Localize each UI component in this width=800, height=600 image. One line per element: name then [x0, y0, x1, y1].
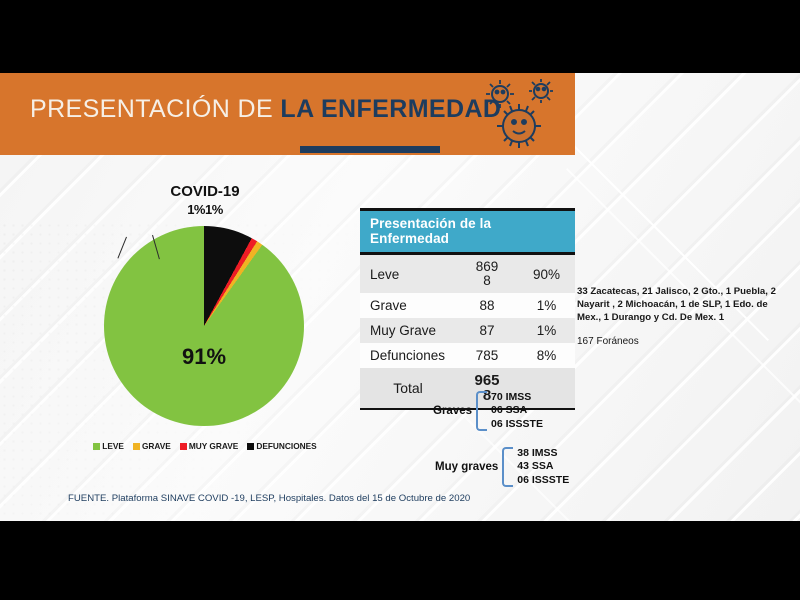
legend-swatch-leve — [93, 443, 100, 450]
bracket-icon — [502, 447, 513, 487]
table-row: Defunciones 785 8% — [360, 343, 575, 368]
table-cell-value: 8698 — [456, 260, 518, 288]
legend-label-muy-grave: MUY GRAVE — [189, 441, 238, 451]
side-note-states: 33 Zacatecas, 21 Jalisco, 2 Gto., 1 Pueb… — [577, 286, 782, 325]
annotation-muy-graves-title: Muy graves — [435, 461, 498, 473]
annotation-item: 06 ISSSTE — [491, 418, 543, 430]
table-cell-pct: 90% — [518, 267, 575, 282]
page-title-light: PRESENTACIÓN DE — [30, 95, 280, 123]
slide-canvas: PRESENTACIÓN DE LA ENFERMEDAD — [0, 73, 800, 521]
table-row: Leve 8698 90% — [360, 255, 575, 293]
annotation-graves: Graves 70 IMSS 06 SSA 06 ISSSTE — [433, 391, 543, 431]
title-banner: PRESENTACIÓN DE LA ENFERMEDAD — [0, 73, 575, 155]
annotation-graves-title: Graves — [433, 405, 472, 417]
chart-title: COVID-19 — [80, 183, 330, 200]
legend-swatch-grave — [133, 443, 140, 450]
table-cell-value: 785 — [456, 349, 518, 363]
table-cell-label: Muy Grave — [360, 323, 456, 338]
annotation-graves-list: 70 IMSS 06 SSA 06 ISSSTE — [491, 391, 543, 431]
letterbox-bottom — [0, 521, 800, 600]
table-cell-label: Defunciones — [360, 348, 456, 363]
table-row: Grave 88 1% — [360, 293, 575, 318]
table-cell-pct: 8% — [518, 348, 575, 363]
legend-item-muy-grave: MUY GRAVE — [180, 441, 238, 451]
annotation-item: 06 ISSSTE — [517, 474, 569, 486]
table-cell-label: Grave — [360, 298, 456, 313]
legend-swatch-defunciones — [247, 443, 254, 450]
table-cell-value: 88 — [456, 299, 518, 313]
chart-legend: LEVE GRAVE MUY GRAVE DEFUNCIONES — [80, 441, 330, 451]
coronavirus-icon — [478, 79, 568, 151]
table-header: Presentación de la Enfermedad — [360, 211, 575, 252]
title-underline — [300, 146, 440, 153]
legend-label-leve: LEVE — [102, 441, 124, 451]
page-title: PRESENTACIÓN DE LA ENFERMEDAD — [30, 95, 501, 124]
annotation-item: 06 SSA — [491, 404, 527, 416]
pie-chart — [104, 226, 304, 426]
legend-item-grave: GRAVE — [133, 441, 171, 451]
annotation-item: 38 IMSS — [517, 447, 557, 459]
table-cell-pct: 1% — [518, 298, 575, 313]
legend-label-grave: GRAVE — [142, 441, 171, 451]
pie-slice-label-leve: 91% — [104, 344, 304, 370]
legend-label-defunciones: DEFUNCIONES — [256, 441, 316, 451]
table-cell-value: 87 — [456, 324, 518, 338]
annotation-muy-graves-list: 38 IMSS 43 SSA 06 ISSSTE — [517, 447, 569, 487]
annotation-item: 43 SSA — [517, 460, 553, 472]
bracket-icon — [476, 391, 487, 431]
slide-stage: PRESENTACIÓN DE LA ENFERMEDAD — [0, 0, 800, 600]
letterbox-top — [0, 0, 800, 73]
disease-presentation-table: Presentación de la Enfermedad Leve 8698 … — [360, 208, 575, 410]
table-row: Muy Grave 87 1% — [360, 318, 575, 343]
table-cell-label: Leve — [360, 267, 456, 282]
annotation-item: 70 IMSS — [491, 391, 531, 403]
legend-item-defunciones: DEFUNCIONES — [247, 441, 316, 451]
annotation-muy-graves: Muy graves 38 IMSS 43 SSA 06 ISSSTE — [435, 447, 569, 487]
legend-item-leve: LEVE — [93, 441, 124, 451]
legend-swatch-muy-grave — [180, 443, 187, 450]
pie-chart-block: COVID-19 1%1% 91% LEVE GRAVE MU — [80, 183, 330, 473]
chart-minor-labels: 1%1% — [80, 202, 330, 217]
page-title-bold: LA ENFERMEDAD — [280, 95, 501, 123]
side-note-foraneos: 167 Foráneos — [577, 336, 639, 347]
source-footer: FUENTE. Plataforma SINAVE COVID -19, LES… — [68, 493, 470, 504]
pie-wrap: 91% — [104, 226, 304, 426]
table-cell-pct: 1% — [518, 323, 575, 338]
